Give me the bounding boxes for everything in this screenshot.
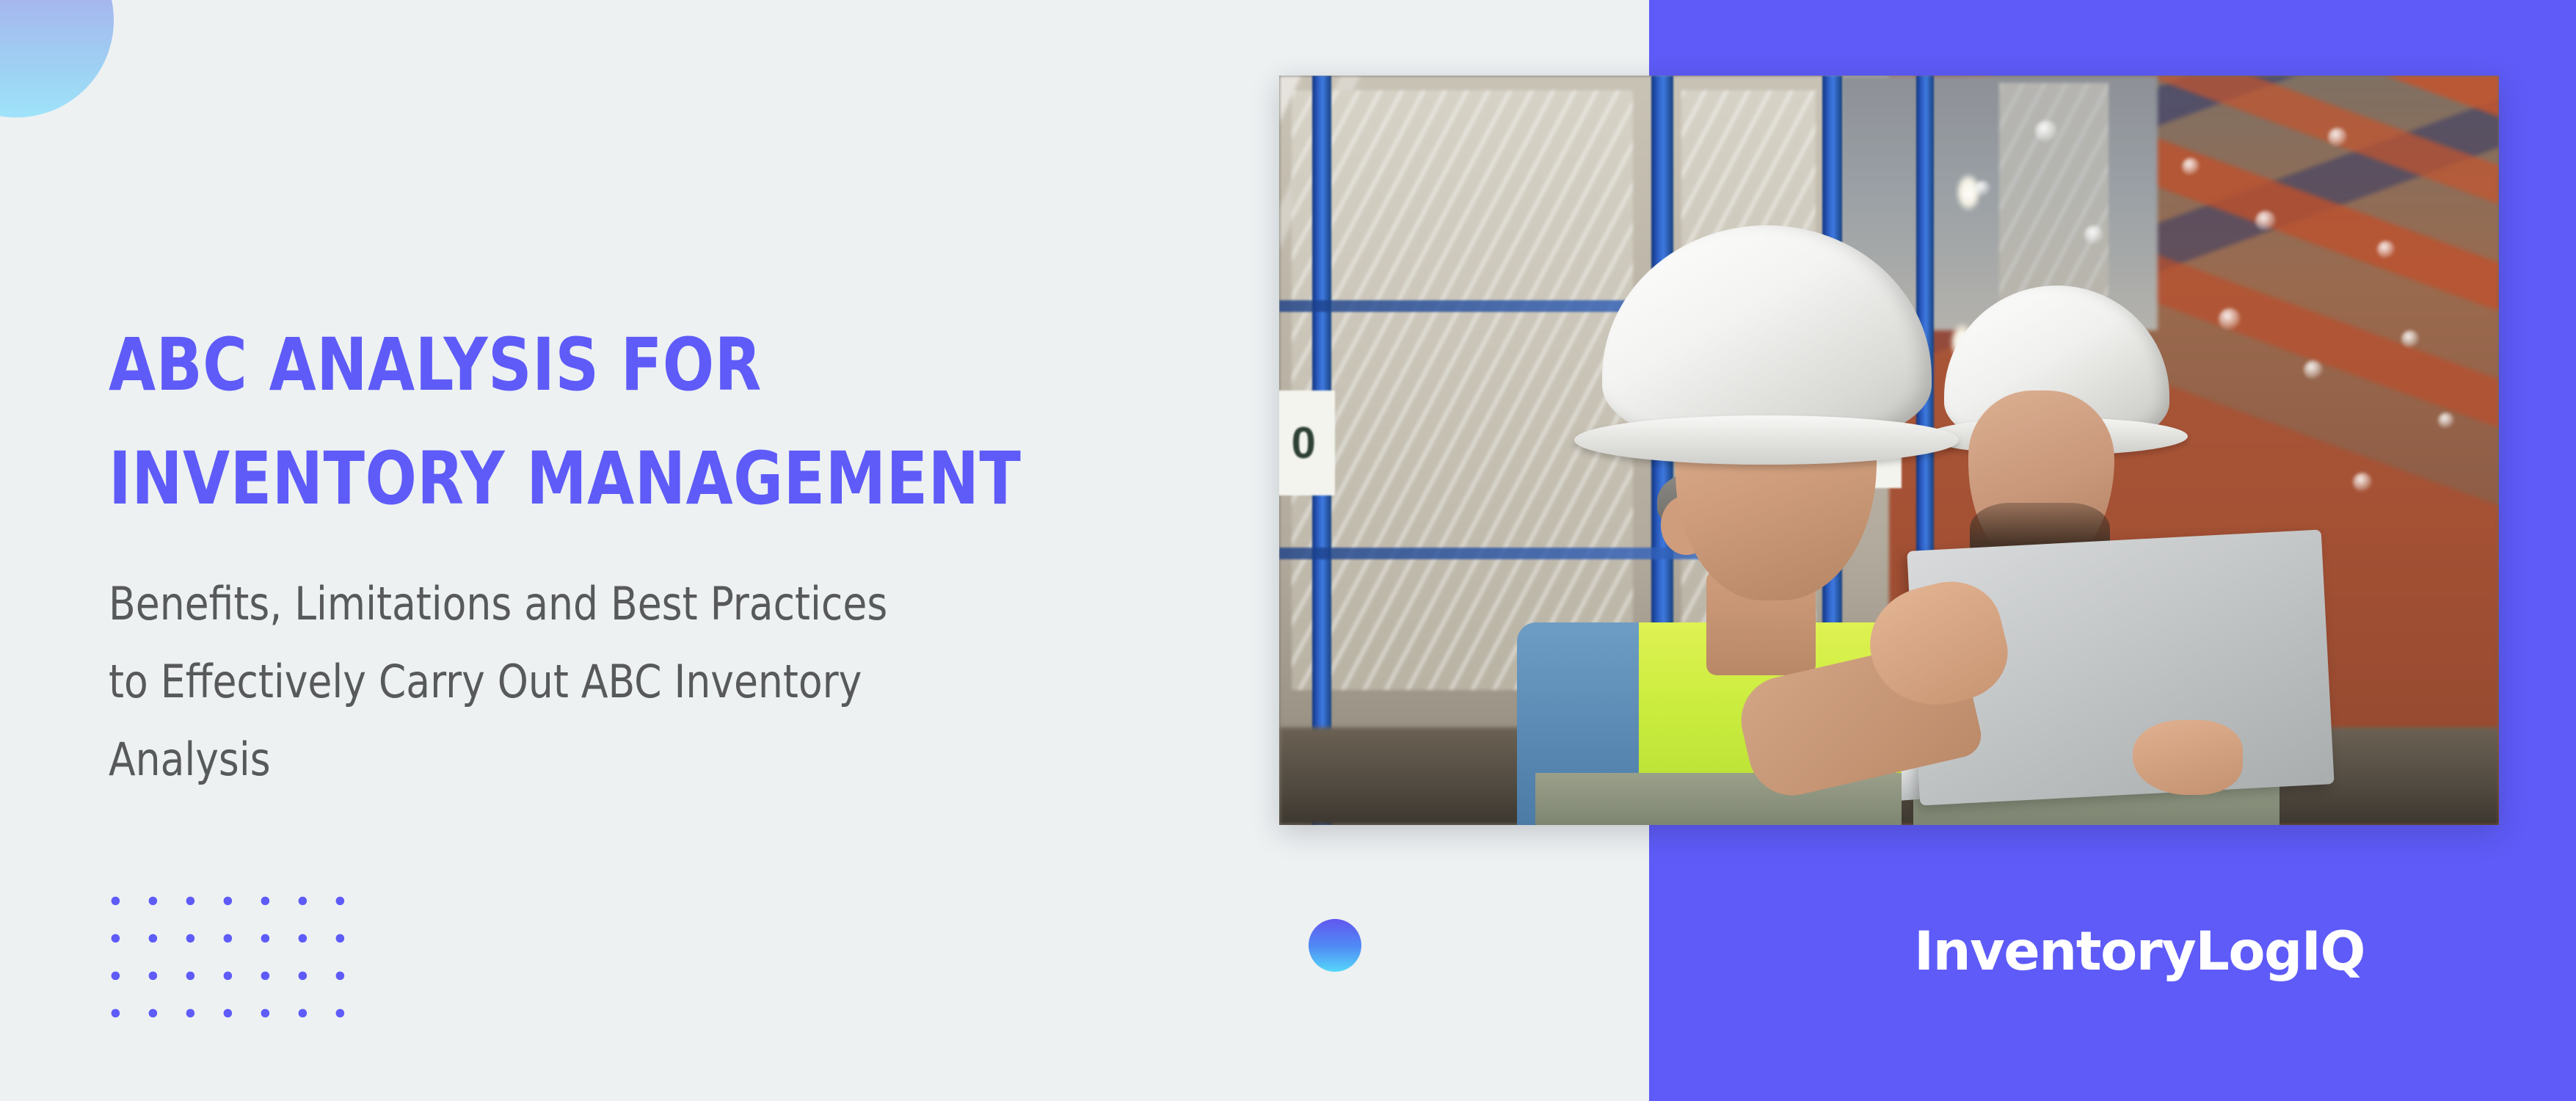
grid-dot — [112, 972, 120, 980]
grid-dot — [186, 1009, 194, 1017]
grid-dot — [336, 972, 344, 980]
bokeh-highlight — [2255, 211, 2276, 231]
gradient-circle-top-left-icon — [0, 0, 114, 117]
page-title: ABC Analysis for Inventory Management — [109, 308, 1146, 536]
bokeh-highlight — [2219, 308, 2241, 330]
grid-dot — [336, 1009, 344, 1017]
grid-dot — [299, 934, 307, 942]
brand-logo: InventoryLogIQ — [1914, 920, 2365, 983]
grid-dot — [149, 897, 157, 905]
grid-dot — [186, 934, 194, 942]
bokeh-highlight — [2353, 473, 2372, 492]
text-column: ABC Analysis for Inventory Management Be… — [109, 308, 1224, 799]
grid-dot — [186, 972, 194, 980]
grid-dot — [299, 1009, 307, 1017]
grid-dot — [224, 1009, 232, 1017]
grid-dot — [261, 934, 269, 942]
bokeh-highlight — [2182, 158, 2200, 175]
grid-dot — [299, 972, 307, 980]
gradient-accent-dot-icon — [1309, 919, 1361, 972]
bokeh-highlight — [2377, 241, 2395, 258]
grid-dot — [224, 934, 232, 942]
grid-dot — [261, 972, 269, 980]
grid-dot — [336, 934, 344, 942]
grid-dot — [112, 897, 120, 905]
banner-canvas: ABC Analysis for Inventory Management Be… — [0, 0, 2576, 1101]
bokeh-highlight — [2084, 225, 2103, 244]
page-subtitle: Benefits, Limitations and Best Practices… — [109, 565, 1179, 799]
grid-dot — [261, 1009, 269, 1017]
grid-dot — [224, 897, 232, 905]
grid-dot — [112, 934, 120, 942]
hero-image: 0 21 — [1279, 76, 2499, 825]
grid-dot — [149, 972, 157, 980]
grid-dot — [149, 1009, 157, 1017]
grid-dot — [224, 972, 232, 980]
grid-dot — [112, 1009, 120, 1017]
worker-b-hand — [2133, 720, 2243, 795]
dot-grid-decoration — [107, 893, 349, 1022]
grid-dot — [261, 897, 269, 905]
wrapped-pallet — [1292, 90, 1633, 690]
grid-dot — [299, 897, 307, 905]
shelf-label: 0 — [1279, 390, 1335, 495]
grid-dot — [149, 934, 157, 942]
grid-dot — [186, 897, 194, 905]
grid-dot — [336, 897, 344, 905]
bokeh-highlight — [2304, 360, 2323, 379]
bokeh-highlight — [2401, 330, 2419, 348]
worker-a-hard-hat-brim — [1574, 415, 1959, 465]
